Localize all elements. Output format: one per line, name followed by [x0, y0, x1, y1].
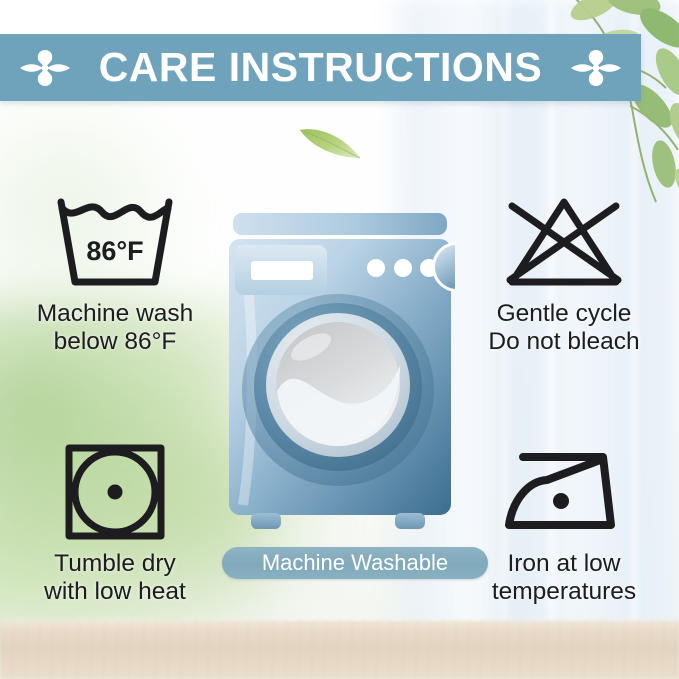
fleur-de-lis-icon [568, 45, 624, 91]
care-symbol-machine-wash: 86°F Machine wash below 86°F [0, 192, 230, 355]
status-badge-label: Machine Washable [262, 552, 448, 574]
care-symbol-do-not-bleach: Gentle cycle Do not bleach [449, 192, 679, 355]
care-symbol-tumble-dry: Tumble dry with low heat [0, 442, 230, 605]
fleur-de-lis-icon [17, 45, 73, 91]
do-not-bleach-triangle-icon [498, 192, 630, 292]
wash-tub-icon: 86°F [49, 192, 181, 292]
care-symbol-caption: Machine wash below 86°F [37, 300, 194, 355]
care-symbol-iron-low: Iron at low temperatures [449, 442, 679, 605]
banner: CARE INSTRUCTIONS [0, 34, 641, 101]
leaf-icon [296, 118, 366, 164]
wash-tub-temperature: 86°F [86, 236, 143, 266]
washing-machine-illustration [225, 205, 455, 540]
care-symbol-caption: Gentle cycle Do not bleach [488, 300, 639, 355]
tumble-dry-low-icon [63, 442, 167, 542]
care-symbol-caption: Iron at low temperatures [492, 550, 636, 605]
care-instructions-graphic: CARE INSTRUCTIONS [0, 0, 679, 679]
iron-low-heat-icon [499, 442, 629, 542]
care-symbol-caption: Tumble dry with low heat [44, 550, 186, 605]
page-title: CARE INSTRUCTIONS [73, 47, 569, 88]
wooden-table-grain [0, 621, 679, 679]
